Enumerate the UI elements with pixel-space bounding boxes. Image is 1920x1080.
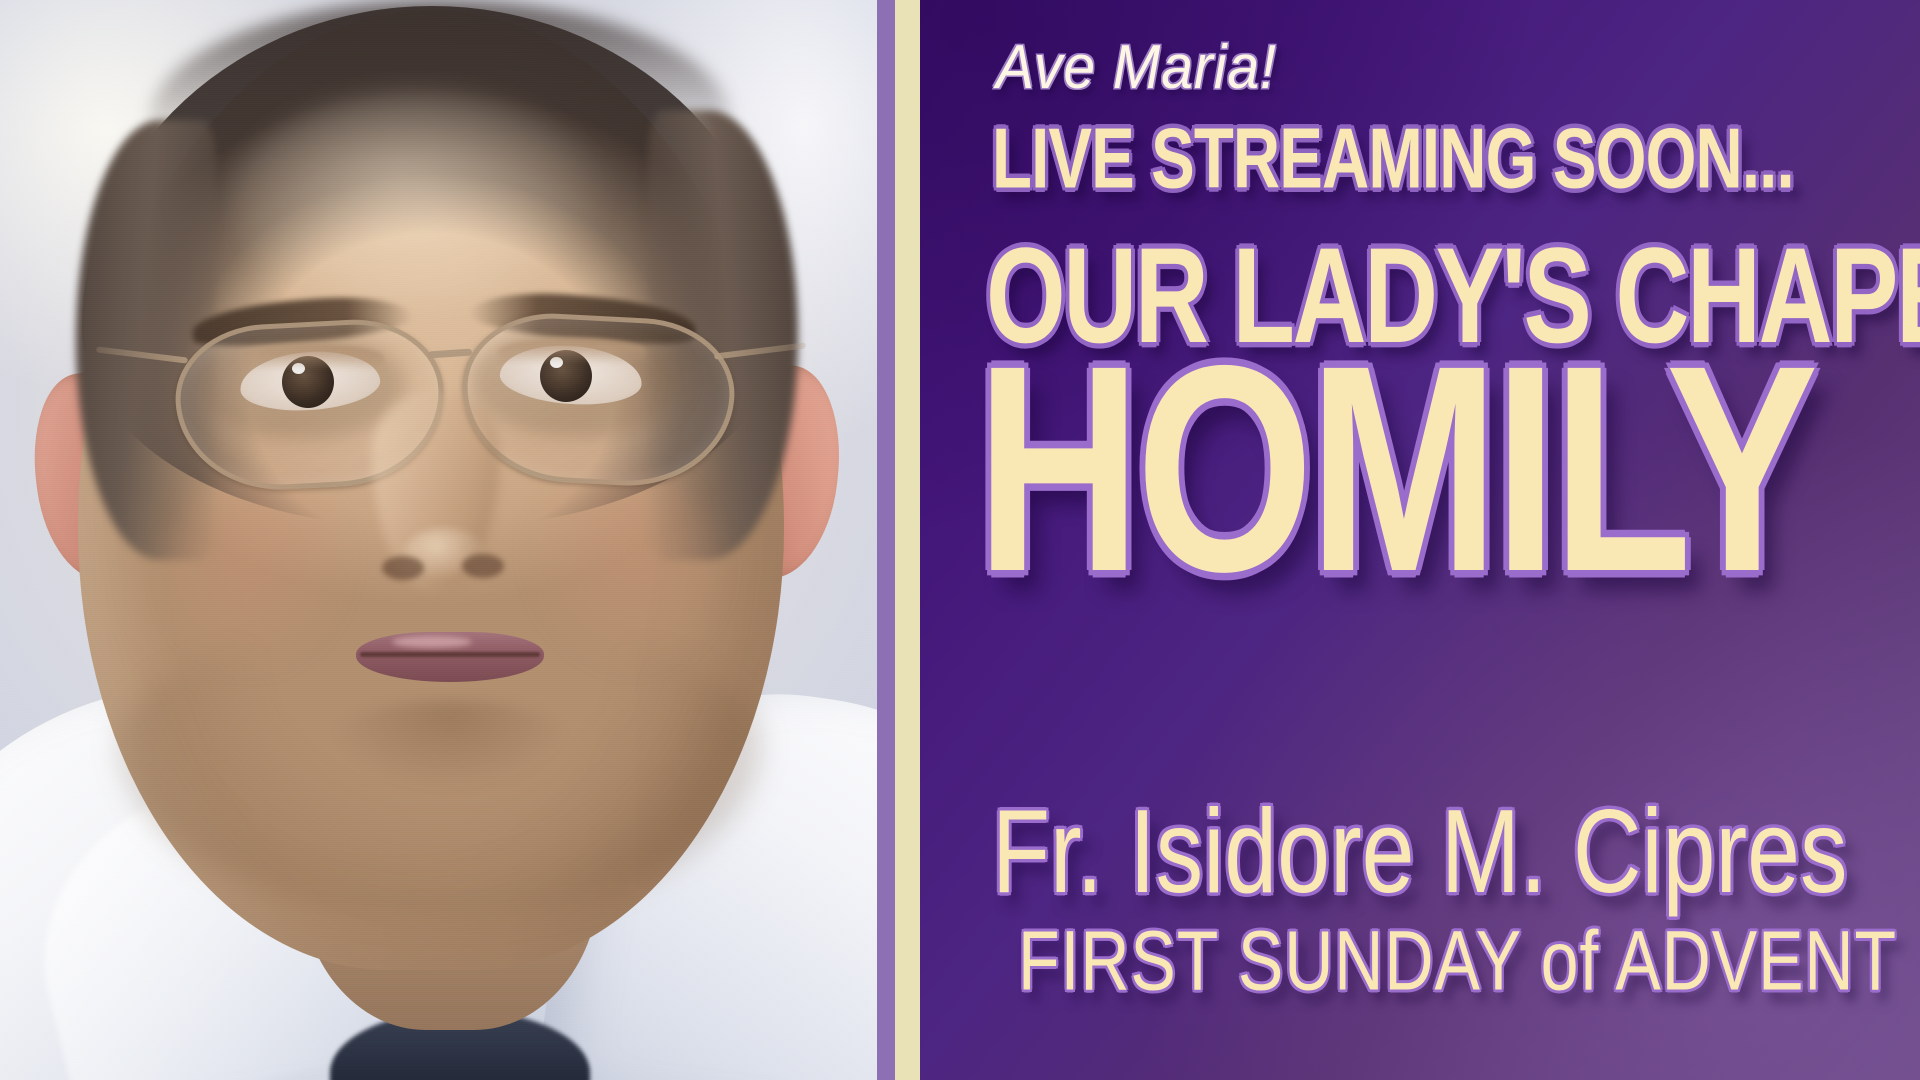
photo-grain-overlay — [0, 0, 877, 1080]
divider-purple-stripe — [877, 0, 895, 1080]
homily-announcement-poster: Ave Maria! LIVE STREAMING SOON... OUR LA… — [0, 0, 1920, 1080]
title-panel: Ave Maria! LIVE STREAMING SOON... OUR LA… — [920, 0, 1920, 1080]
kicker-ave-maria: Ave Maria! — [996, 32, 1277, 103]
divider-cream-stripe — [895, 0, 920, 1080]
speaker-portrait-photo — [0, 0, 877, 1080]
occasion-subtitle: FIRST SUNDAY of ADVENT — [1018, 912, 1897, 1009]
announcement-live-streaming: LIVE STREAMING SOON... — [992, 110, 1794, 207]
program-title-homily: HOMILY — [976, 300, 1813, 638]
speaker-name: Fr. Isidore M. Cipres — [992, 782, 1848, 920]
